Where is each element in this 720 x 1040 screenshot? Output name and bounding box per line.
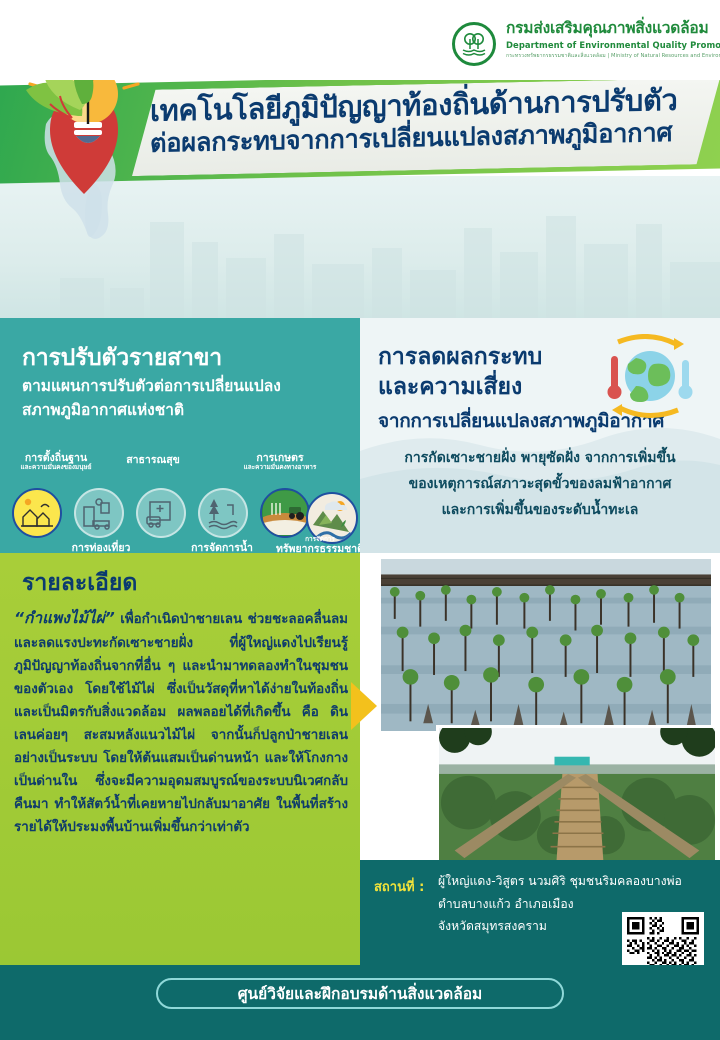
walkway-photo-graphic [439, 728, 715, 862]
location-label: สถานที่ : [374, 876, 424, 897]
poster-root: กรมส่งเสริมคุณภาพสิ่งแวดล้อม Department … [0, 0, 720, 1040]
sector-label-health: สาธารณสุข [110, 454, 196, 466]
details-body: “กำแพงไม้ไผ่” เพื่อกำเนิดป่าชายเลน ช่วยช… [14, 605, 348, 839]
details-heading: รายละเอียด [22, 565, 137, 601]
mangrove-photo-graphic [381, 559, 711, 731]
footer-text: ศูนย์วิจัยและฝึกอบรมด้านสิ่งแวดล้อม [156, 978, 564, 1009]
sector-icon-row: การตั้งถิ่นฐาน และความมั่นคงของมนุษย์ สา… [6, 468, 362, 548]
sector-label-agriculture: การเกษตร และความมั่นคงทางอาหาร [228, 452, 332, 471]
org-name-en: Department of Environmental Quality Prom… [506, 40, 716, 50]
health-icon [136, 488, 186, 538]
arrow-right-icon [351, 682, 377, 730]
details-text: เพื่อกำเนิดป่าชายเลน ช่วยชะลอคลื่นลมและล… [14, 612, 348, 835]
mitigation-heading: การลดผลกระทบ และความเสี่ยง [378, 342, 542, 403]
adaptation-subheading-line1: ตามแผนการปรับตัวต่อการเปลี่ยนแปลง [22, 374, 352, 398]
location-line-1: ผู้ใหญ่แดง-วิสูตร นวมศิริ ชุมชนริมคลองบา… [438, 870, 720, 893]
adaptation-heading: การปรับตัวรายสาขา [22, 340, 222, 376]
settlement-icon [12, 488, 62, 538]
globe-thermometer-icon [596, 334, 702, 420]
mitigation-body-line3: และการเพิ่มขึ้นของระดับน้ำทะเล [368, 498, 712, 524]
mitigation-body-line1: การกัดเซาะชายฝั่ง พายุซัดฝั่ง จากการเพิ่… [368, 446, 712, 472]
mitigation-panel: การลดผลกระทบ และความเสี่ยง จากการเปลี่ยน… [360, 318, 720, 553]
tree-logo-icon [459, 29, 489, 59]
mangrove-seedlings-photo [378, 556, 714, 734]
deqp-logo-icon [452, 22, 496, 66]
tourism-icon [74, 488, 124, 538]
sector-label-settlement: การตั้งถิ่นฐาน และความมั่นคงของมนุษย์ [6, 452, 106, 471]
mitigation-body-line2: ของเหตุการณ์สภาวะสุดขั้วของลมฟ้าอากาศ [368, 472, 712, 498]
details-lead: “กำแพงไม้ไผ่” [14, 609, 115, 627]
org-name-th: กรมส่งเสริมคุณภาพสิ่งแวดล้อม [506, 20, 716, 38]
page-title: เทคโนโลยีภูมิปัญญาท้องถิ่นด้านการปรับตัว… [150, 82, 710, 160]
adaptation-subheading: ตามแผนการปรับตัวต่อการเปลี่ยนแปลง สภาพภู… [22, 374, 352, 422]
water-management-icon [198, 488, 248, 538]
details-panel: รายละเอียด “กำแพงไม้ไผ่” เพื่อกำเนิดป่าช… [0, 553, 360, 965]
agriculture-icon [260, 488, 310, 538]
bamboo-walkway-photo [436, 725, 718, 865]
header: กรมส่งเสริมคุณภาพสิ่งแวดล้อม Department … [0, 0, 720, 80]
adaptation-subheading-line2: สภาพภูมิอากาศแห่งชาติ [22, 398, 352, 422]
mitigation-body: การกัดเซาะชายฝั่ง พายุซัดฝั่ง จากการเพิ่… [368, 446, 712, 524]
org-ministry: กระทรวงทรัพยากรธรรมชาติและสิ่งแวดล้อม | … [506, 52, 716, 60]
deqp-text-block: กรมส่งเสริมคุณภาพสิ่งแวดล้อม Department … [506, 20, 716, 60]
